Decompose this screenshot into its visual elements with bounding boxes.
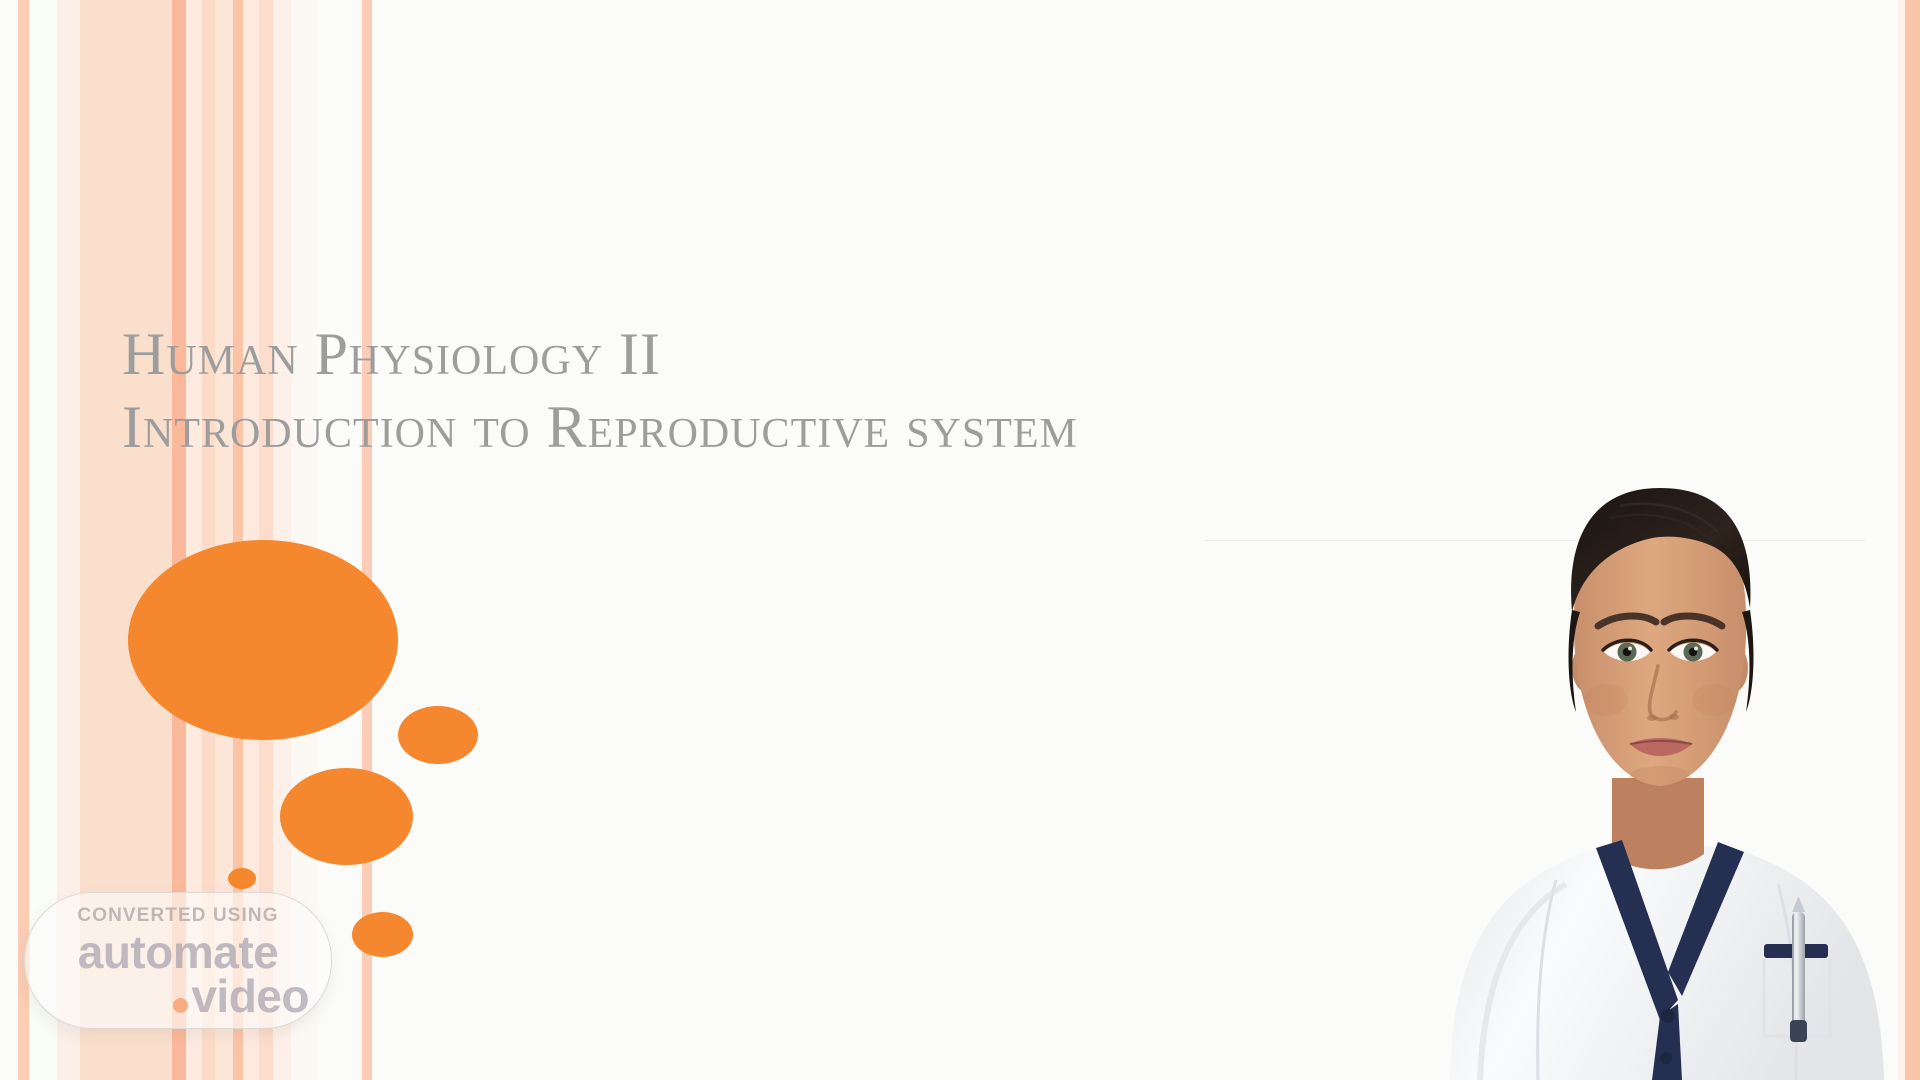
title-line-secondary: Introduction to Reproductive system bbox=[122, 391, 1572, 464]
watermark-dot-icon bbox=[173, 998, 188, 1013]
tiny-ellipse-1 bbox=[228, 868, 256, 889]
tiny-ellipse-2 bbox=[352, 912, 413, 957]
watermark-converted-label: CONVERTED USING bbox=[77, 905, 278, 927]
medium-ellipse bbox=[280, 768, 413, 865]
presenter-head bbox=[1569, 488, 1754, 786]
slide-canvas: Human Physiology II Introduction to Repr… bbox=[0, 0, 1920, 1080]
large-ellipse bbox=[128, 540, 398, 740]
title-line-primary: Human Physiology II bbox=[122, 318, 1572, 391]
small-ellipse bbox=[398, 706, 478, 764]
watermark-tld-row: video bbox=[173, 969, 309, 1023]
pen-icon bbox=[1790, 896, 1807, 1042]
page-title: Human Physiology II Introduction to Repr… bbox=[122, 318, 1572, 464]
watermark-brand-tld: video bbox=[191, 969, 309, 1023]
presenter-figure bbox=[1360, 460, 1920, 1080]
watermark-badge: CONVERTED USING automate video bbox=[24, 892, 332, 1029]
